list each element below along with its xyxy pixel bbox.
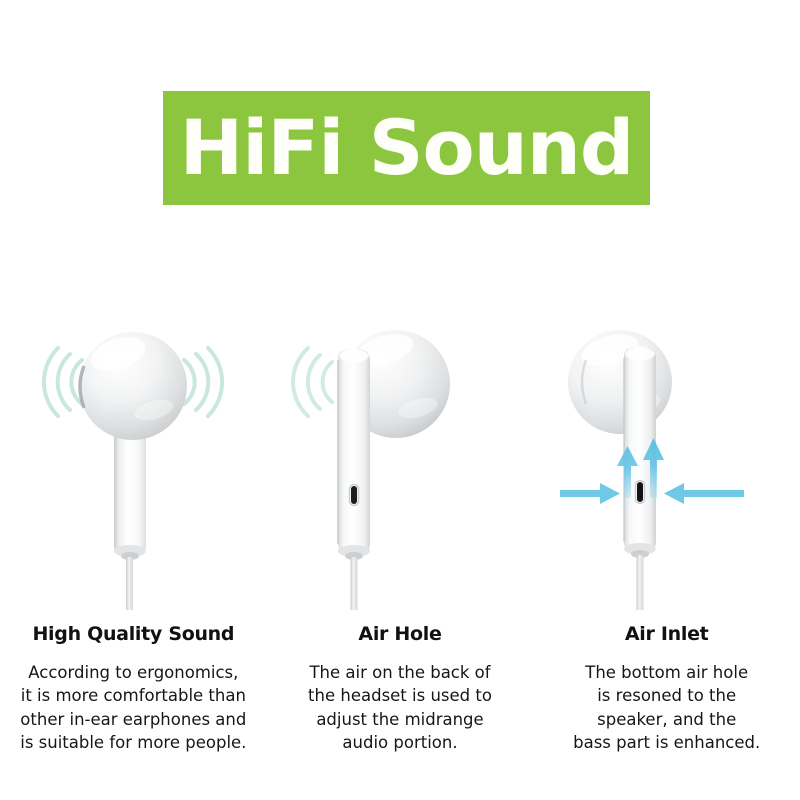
earphone-cable <box>126 557 133 610</box>
caption-line: The bottom air hole <box>585 663 748 682</box>
air-hole-slot-icon <box>351 486 357 504</box>
caption-line: is resoned to the <box>597 686 736 705</box>
caption-line: audio portion. <box>342 733 457 752</box>
caption-line: bass part is enhanced. <box>573 733 760 752</box>
soundwave-arc-right-icon <box>184 348 222 416</box>
arrow-right-icon <box>560 483 620 504</box>
caption-column-air-inlet: Air Inlet The bottom air hole is resoned… <box>533 624 800 784</box>
caption-line: it is more comfortable than <box>21 686 246 705</box>
caption-column-high-quality-sound: High Quality Sound According to ergonomi… <box>0 624 267 784</box>
earphone-front-soundwaves <box>36 300 302 610</box>
caption-body-high-quality-sound: According to ergonomics, it is more comf… <box>14 661 253 755</box>
caption-title-air-hole: Air Hole <box>281 624 520 645</box>
soundwave-arc-left-icon <box>44 348 82 416</box>
caption-line: other in-ear earphones and <box>20 710 246 729</box>
hifi-sound-banner: HiFi Sound <box>163 91 650 205</box>
caption-column-air-hole: Air Hole The air on the back of the head… <box>267 624 534 784</box>
caption-line: speaker, and the <box>597 710 736 729</box>
caption-line: the headset is used to <box>308 686 492 705</box>
infographic-page: HiFi Sound <box>0 0 800 800</box>
caption-title-air-inlet: Air Inlet <box>547 624 786 645</box>
soundwave-arc-left-icon <box>293 348 332 416</box>
caption-title-high-quality-sound: High Quality Sound <box>14 624 253 645</box>
caption-body-air-hole: The air on the back of the headset is us… <box>281 661 520 755</box>
air-inlet-slot-icon <box>637 482 643 502</box>
caption-line: is suitable for more people. <box>20 733 246 752</box>
caption-line: The air on the back of <box>309 663 490 682</box>
banner-title: HiFi Sound <box>180 110 634 186</box>
earphone-stem <box>338 348 370 554</box>
earphone-cable <box>637 555 644 610</box>
caption-body-air-inlet: The bottom air hole is resoned to the sp… <box>547 661 786 755</box>
arrow-left-icon <box>664 483 744 504</box>
caption-line: adjust the midrange <box>316 710 483 729</box>
earphone-side-air-inlet <box>524 300 790 610</box>
caption-line: According to ergonomics, <box>28 663 238 682</box>
earphone-illustration-row <box>0 300 800 610</box>
caption-row: High Quality Sound According to ergonomi… <box>0 624 800 784</box>
earphone-side-air-hole <box>276 300 542 610</box>
earphone-cable <box>351 557 358 610</box>
